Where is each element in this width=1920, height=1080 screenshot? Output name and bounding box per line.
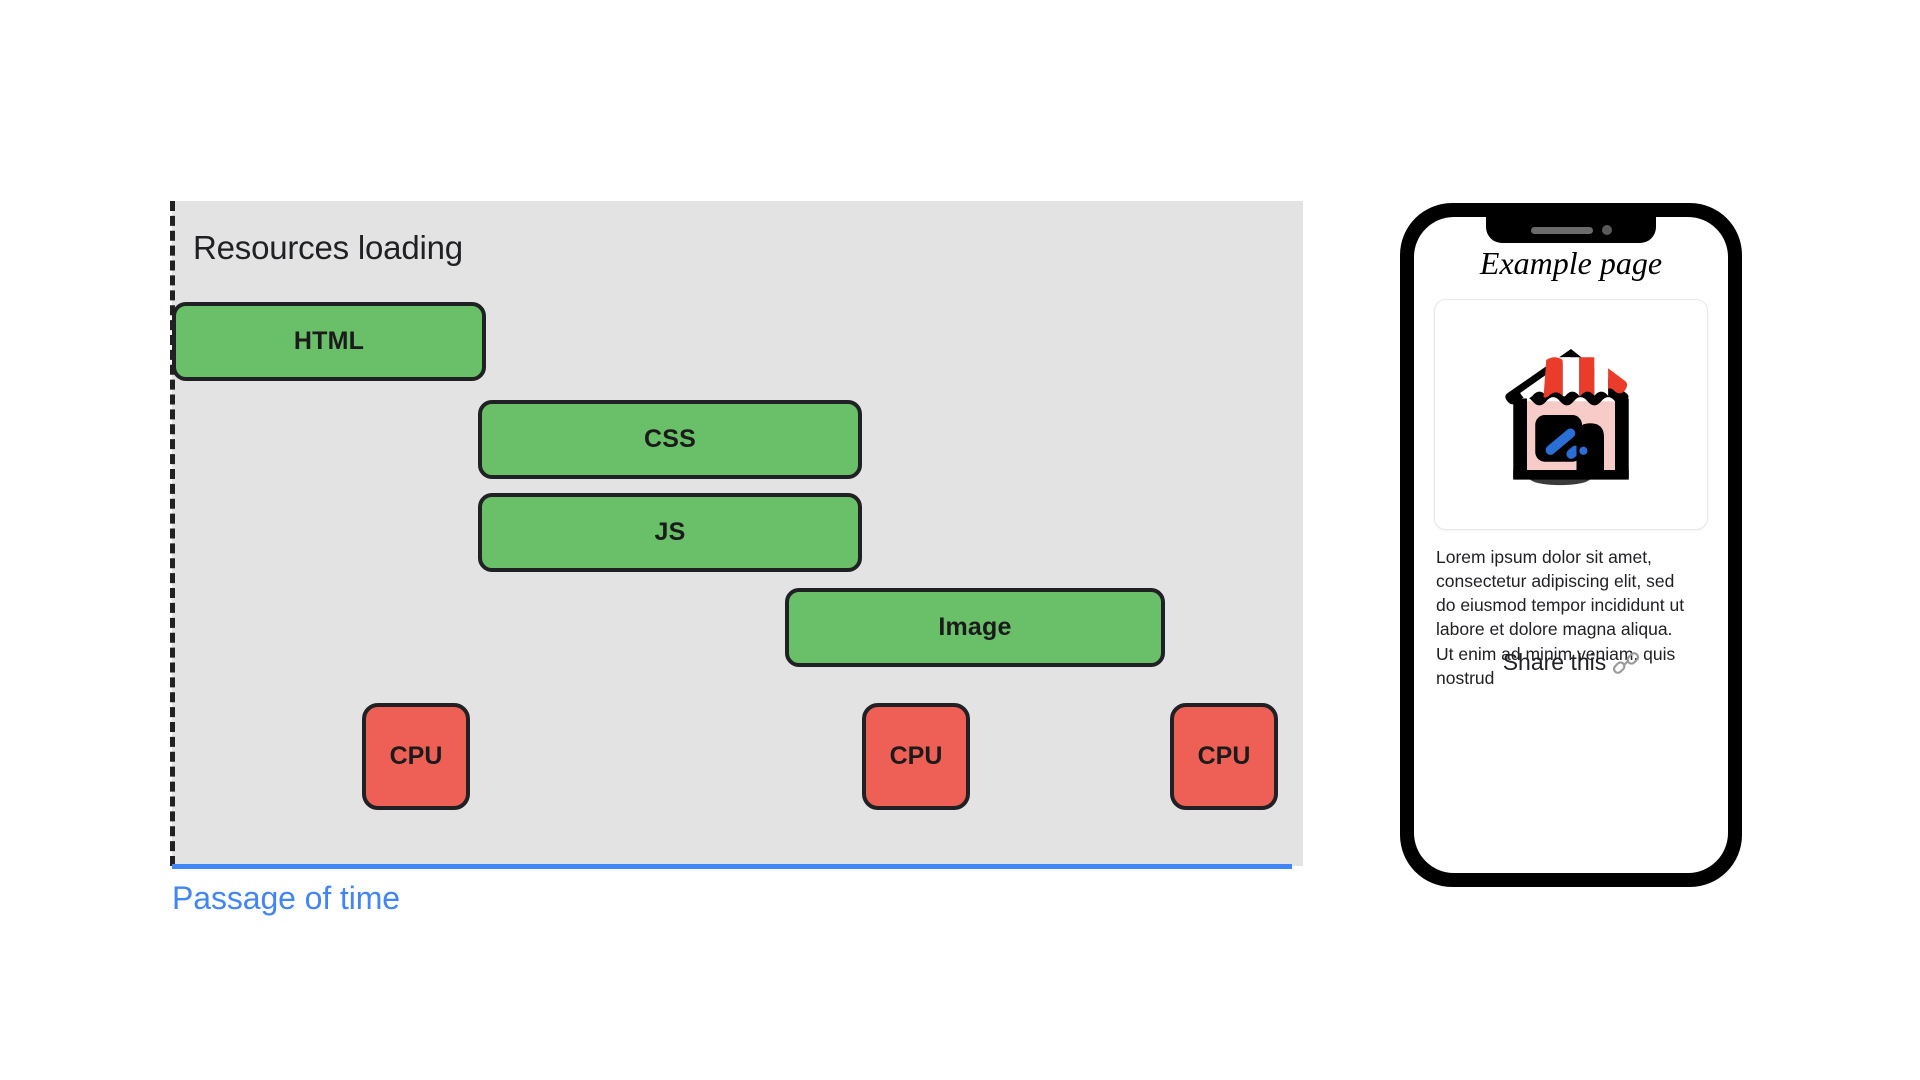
image-card — [1434, 299, 1708, 530]
cpu-task-label: CPU — [1198, 742, 1251, 771]
speaker-grille-icon — [1531, 227, 1593, 234]
resource-bar-label: CSS — [644, 425, 696, 454]
page-title: Example page — [1414, 245, 1728, 282]
resource-bar-js: JS — [478, 493, 862, 572]
share-this-label: Share this — [1503, 649, 1607, 676]
navigation-start-dashed-line — [170, 201, 175, 866]
storefront-illustration-icon — [1483, 327, 1659, 503]
resource-bar-html: HTML — [172, 302, 486, 381]
cpu-task-box-2: CPU — [862, 703, 970, 810]
link-icon[interactable] — [1613, 650, 1639, 676]
resource-bar-label: Image — [938, 613, 1011, 642]
cpu-task-label: CPU — [390, 742, 443, 771]
front-camera-icon — [1602, 225, 1612, 235]
cpu-task-label: CPU — [890, 742, 943, 771]
resource-bar-label: JS — [655, 518, 686, 547]
cpu-task-box-1: CPU — [362, 703, 470, 810]
time-axis-line — [172, 864, 1292, 869]
resources-loading-diagram: Resources loading HTML CSS JS Image CPU … — [172, 201, 1303, 866]
time-axis-label: Passage of time — [172, 880, 400, 917]
phone-notch — [1486, 217, 1656, 243]
diagram-title: Resources loading — [193, 229, 463, 267]
phone-mockup: Example page — [1400, 203, 1742, 887]
resource-bar-label: HTML — [294, 327, 364, 356]
resource-bar-image: Image — [785, 588, 1165, 667]
cpu-task-box-3: CPU — [1170, 703, 1278, 810]
resource-bar-css: CSS — [478, 400, 862, 479]
time-axis-arrow — [172, 858, 1312, 876]
share-this-row[interactable]: Share this — [1414, 649, 1728, 676]
phone-screen: Example page — [1414, 217, 1728, 873]
